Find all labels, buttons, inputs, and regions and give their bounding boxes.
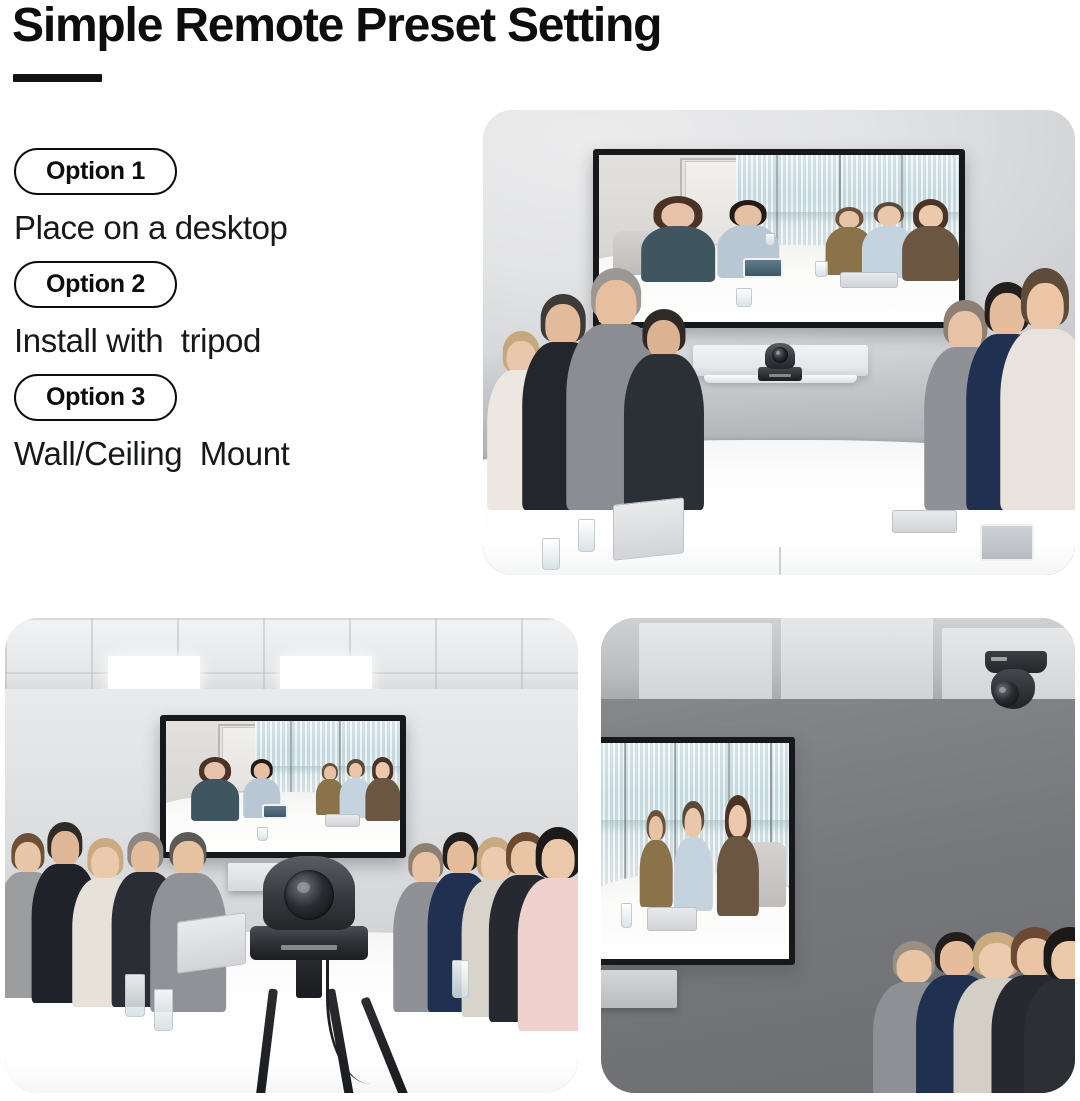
attendee-head (173, 841, 203, 875)
ptz-camera-ceiling-mounted (985, 651, 1047, 717)
remote-participant (191, 758, 238, 821)
option-badge-3: Option 3 (14, 374, 177, 421)
water-glass (542, 538, 560, 571)
option-description-2: Install with tripod (14, 322, 460, 361)
remote-participants-video-feed (601, 743, 789, 959)
options-list: Option 1 Place on a desktop Option 2 Ins… (0, 148, 460, 487)
attendee-torso (1024, 979, 1075, 1093)
camera-base (250, 926, 368, 960)
attendee-torso (518, 878, 578, 1031)
participant-body (640, 840, 673, 907)
water-glass (815, 261, 828, 276)
participant-head (349, 763, 363, 778)
participant-head (324, 766, 336, 779)
participant-head (728, 805, 747, 838)
camera-wall-shelf (601, 970, 677, 1008)
page-title: Simple Remote Preset Setting (12, 0, 661, 53)
water-glass (621, 903, 633, 929)
participant-head (254, 763, 271, 779)
participant-head (661, 203, 694, 228)
remote-participant (365, 759, 400, 820)
attendee (1004, 268, 1075, 510)
participant-head (375, 762, 390, 779)
participant-head (918, 205, 942, 227)
attendee-head (1051, 941, 1075, 981)
attendee-head (542, 839, 575, 880)
attendee-torso (624, 354, 704, 509)
conference-room-scene-ceiling (601, 618, 1075, 1093)
remote-participant (716, 799, 758, 916)
option-description-3: Wall/Ceiling Mount (14, 435, 460, 474)
attendee (625, 305, 702, 510)
water-glass (452, 960, 469, 998)
option-description-1: Place on a desktop (14, 209, 460, 248)
ceiling-mount-photo (601, 618, 1075, 1093)
participant-body (365, 778, 400, 820)
attendee (1028, 927, 1075, 1093)
option-item-2: Option 2 Install with tripod (0, 261, 460, 361)
desktop-and-wall-mount-photo (483, 110, 1075, 575)
water-glass (154, 989, 173, 1032)
remote-participant (674, 803, 712, 911)
window-mullion (624, 743, 626, 886)
water-glass (578, 519, 596, 552)
remote-participant (902, 201, 960, 281)
participant-body (191, 779, 239, 820)
remote-laptop (840, 272, 898, 289)
attendee (521, 827, 578, 1031)
participant-head (735, 205, 762, 227)
ptz-camera-on-shelf (757, 343, 803, 381)
remote-tablet (262, 804, 288, 820)
option-badge-1: Option 1 (14, 148, 177, 195)
water-glass (736, 288, 752, 306)
attendee-head (1027, 283, 1063, 331)
camera-lens (772, 347, 788, 363)
option-item-3: Option 3 Wall/Ceiling Mount (0, 374, 460, 474)
attendee-head (647, 320, 681, 359)
water-glass (765, 233, 775, 246)
tripod-mount-photo (5, 618, 578, 1093)
water-glass (257, 827, 268, 841)
attendee-torso (1001, 329, 1075, 510)
touch-panel (980, 524, 1033, 561)
camera-lens (284, 870, 334, 920)
participant-body (902, 226, 960, 281)
table-seam (779, 547, 781, 575)
camera-label (769, 374, 791, 377)
remote-tablet (743, 258, 783, 278)
title-accent-rule (13, 74, 102, 82)
participant-head (649, 816, 663, 842)
conference-room-scene (483, 110, 1075, 575)
conference-room-scene-tripod (5, 618, 578, 1093)
participant-head (878, 206, 901, 226)
camera-lens (993, 681, 1019, 707)
laptop (613, 497, 684, 560)
participant-body (674, 837, 712, 912)
ptz-camera-on-tripod (249, 856, 369, 960)
wall-mounted-tv (601, 737, 795, 965)
participant-head (204, 762, 226, 781)
laptop-closed (892, 510, 957, 533)
laptop (177, 912, 246, 974)
participant-head (685, 808, 702, 838)
remote-laptop (325, 814, 360, 827)
remote-participant (640, 812, 673, 907)
tv-screen (601, 743, 789, 959)
option-badge-2: Option 2 (14, 261, 177, 308)
option-item-1: Option 1 Place on a desktop (0, 148, 460, 248)
camera-indicator-led (991, 657, 1007, 661)
remote-laptop (647, 907, 697, 931)
camera-label (281, 945, 337, 950)
participant-head (840, 211, 860, 228)
water-glass (125, 974, 144, 1017)
participant-body (716, 836, 758, 915)
